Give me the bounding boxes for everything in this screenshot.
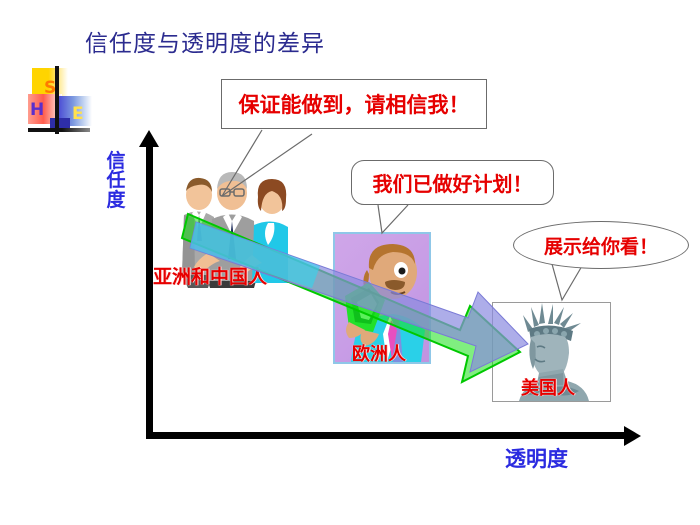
slide-title: 信任度与透明度的差异 — [85, 24, 325, 58]
slide-canvas: S H E 信任度与透明度的差异 信任度 透明度 — [0, 0, 700, 525]
y-axis-arrowhead-icon — [139, 130, 159, 147]
speech-bubble-show-text: 展示给你看！ — [544, 232, 658, 259]
x-axis-label: 透明度 — [505, 443, 568, 473]
logo-horizontal-bar — [28, 128, 90, 132]
logo-letter-e: E — [72, 106, 84, 123]
speech-bubble-promise-text: 保证能做到，请相信我！ — [239, 89, 470, 119]
label-usa-group: 美国人 — [521, 374, 575, 400]
bubble-tail-show — [552, 264, 582, 300]
label-asian-group: 亚洲和中国人 — [153, 262, 267, 289]
logo-letter-s: S — [44, 80, 56, 97]
y-axis-line — [146, 144, 153, 439]
y-axis-label: 信任度 — [103, 152, 129, 210]
logo-letter-h: H — [30, 102, 44, 119]
speech-bubble-plan-text: 我们已做好计划！ — [373, 168, 533, 197]
speech-bubble-show: 展示给你看！ — [513, 221, 689, 269]
speech-bubble-promise: 保证能做到，请相信我！ — [221, 79, 487, 129]
x-axis-arrowhead-icon — [624, 426, 641, 446]
x-axis-line — [146, 432, 628, 439]
bubble-tail-plan — [378, 205, 408, 233]
speech-bubble-plan: 我们已做好计划！ — [351, 160, 554, 205]
she-logo: S H E — [28, 66, 88, 134]
logo-vertical-bar — [55, 66, 59, 134]
label-european-group: 欧洲人 — [352, 340, 406, 366]
